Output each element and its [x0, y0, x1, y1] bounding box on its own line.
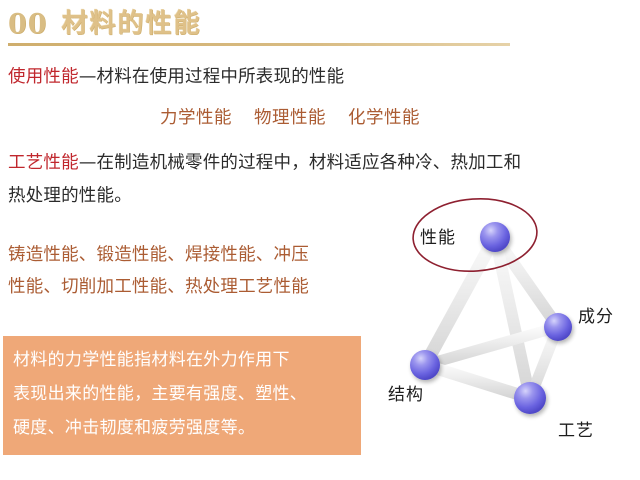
slide-canvas: 00 材料的性能 使用性能—材料在使用过程中所表现的性能 力学性能物理性能化学性… — [0, 0, 640, 480]
list-performance-categories: 力学性能物理性能化学性能 — [160, 103, 420, 133]
node-sphere-xingneng — [480, 222, 510, 252]
list-process-types-line2: 性能、切削加工性能、热处理工艺性能 — [8, 272, 309, 302]
tetrahedron-svg — [378, 188, 640, 478]
edge-jiegou-gongyi — [425, 365, 530, 398]
keyword-process-performance: 工艺性能 — [8, 153, 79, 173]
category-mechanical: 力学性能 — [160, 108, 232, 128]
node-sphere-chengfen — [544, 313, 572, 341]
category-chemical: 化学性能 — [348, 108, 420, 128]
node-label-xingneng: 性能 — [420, 223, 456, 248]
tetrahedron-diagram: 性能 成分 结构 工艺 — [378, 188, 640, 478]
callout-line-1: 材料的力学性能指材料在外力作用下 — [13, 343, 351, 377]
node-label-jiegou: 结构 — [388, 380, 424, 405]
list-process-types-line1: 铸造性能、锻造性能、焊接性能、冲压 — [8, 240, 309, 270]
paragraph-usage-performance-rest: —材料在使用过程中所表现的性能 — [79, 67, 345, 87]
paragraph-process-performance-rest: —在制造机械零件的过程中，材料适应各种冷、热加工和 — [79, 153, 522, 173]
callout-line-3: 硬度、冲击韧度和疲劳强度等。 — [13, 411, 351, 445]
callout-line-2: 表现出来的性能，主要有强度、塑性、 — [13, 377, 351, 411]
node-label-chengfen: 成分 — [578, 302, 614, 327]
title-underline-rule — [8, 43, 510, 46]
title-number: 00 — [8, 11, 48, 38]
node-sphere-jiegou — [410, 350, 440, 380]
title-text: 材料的性能 — [62, 11, 202, 37]
category-physical: 物理性能 — [254, 108, 326, 128]
paragraph-process-performance: 工艺性能—在制造机械零件的过程中，材料适应各种冷、热加工和 — [8, 148, 521, 178]
paragraph-usage-performance: 使用性能—材料在使用过程中所表现的性能 — [8, 62, 344, 92]
paragraph-process-performance-cont: 热处理的性能。 — [8, 181, 132, 211]
page-title: 00 材料的性能 — [8, 6, 528, 42]
callout-box: 材料的力学性能指材料在外力作用下 表现出来的性能，主要有强度、塑性、 硬度、冲击… — [3, 336, 361, 455]
keyword-usage-performance: 使用性能 — [8, 67, 79, 87]
diagram-edges — [425, 237, 558, 398]
node-label-gongyi: 工艺 — [558, 416, 594, 441]
node-sphere-gongyi — [514, 382, 546, 414]
